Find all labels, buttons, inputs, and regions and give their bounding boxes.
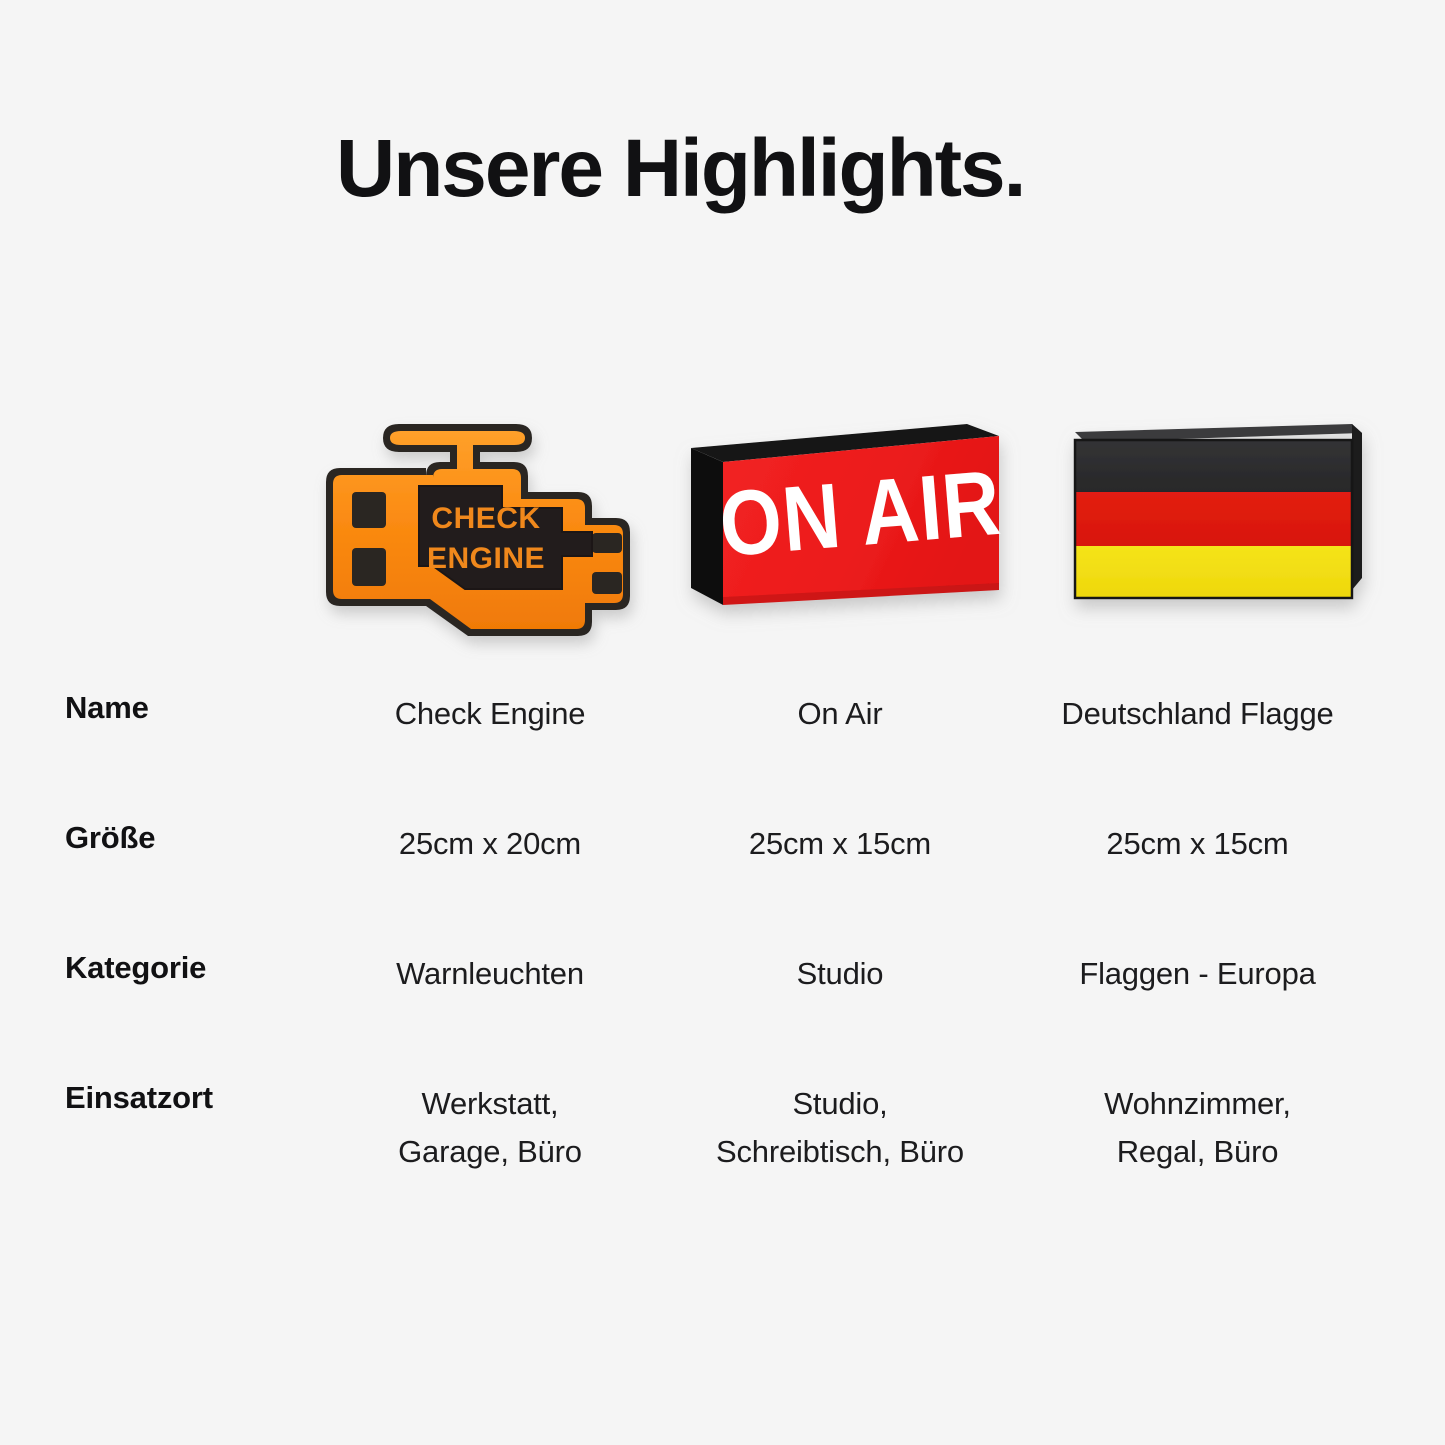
row-label-kategorie: Kategorie (65, 950, 206, 986)
table-row: Name Check Engine On Air Deutschland Fla… (0, 690, 1445, 820)
cell-groesse-check-engine: 25cm x 20cm (330, 820, 650, 868)
cell-line: Studio, (680, 1080, 1000, 1128)
check-engine-label-line1: CHECK (431, 502, 540, 535)
product-image-row: CHECK ENGINE (0, 400, 1445, 670)
cell-line: Wohnzimmer, (1025, 1080, 1370, 1128)
cell-groesse-on-air: 25cm x 15cm (680, 820, 1000, 868)
cell-line: Garage, Büro (330, 1128, 650, 1176)
cell-einsatzort-check-engine: Werkstatt, Garage, Büro (330, 1080, 650, 1176)
table-row: Größe 25cm x 20cm 25cm x 15cm 25cm x 15c… (0, 820, 1445, 950)
cell-line: Werkstatt, (330, 1080, 650, 1128)
page-title: Unsere Highlights. (336, 126, 1024, 212)
cell-einsatzort-on-air: Studio, Schreibtisch, Büro (680, 1080, 1000, 1176)
table-row: Einsatzort Werkstatt, Garage, Büro Studi… (0, 1080, 1445, 1230)
comparison-table: Name Check Engine On Air Deutschland Fla… (0, 690, 1445, 1230)
cell-line: Regal, Büro (1025, 1128, 1370, 1176)
row-label-name: Name (65, 690, 149, 726)
cell-name-deutschland-flagge: Deutschland Flagge (1025, 690, 1370, 738)
cell-einsatzort-deutschland-flagge: Wohnzimmer, Regal, Büro (1025, 1080, 1370, 1176)
cell-kategorie-check-engine: Warnleuchten (330, 950, 650, 998)
product-image-deutschland-flagge (1030, 400, 1405, 670)
check-engine-lamp-art: CHECK ENGINE (300, 400, 680, 670)
cell-line: Schreibtisch, Büro (680, 1128, 1000, 1176)
table-row: Kategorie Warnleuchten Studio Flaggen - … (0, 950, 1445, 1080)
cell-kategorie-deutschland-flagge: Flaggen - Europa (1025, 950, 1370, 998)
on-air-lightbox-art: ON AIR (655, 400, 1025, 670)
flag-lightbox-art (1030, 400, 1405, 670)
cell-kategorie-on-air: Studio (680, 950, 1000, 998)
infographic-page: Unsere Highlights. (0, 0, 1445, 1445)
product-image-on-air: ON AIR (655, 400, 1025, 670)
row-label-einsatzort: Einsatzort (65, 1080, 213, 1116)
row-label-groesse: Größe (65, 820, 155, 856)
product-image-check-engine: CHECK ENGINE (300, 400, 680, 670)
cell-name-check-engine: Check Engine (330, 690, 650, 738)
check-engine-label-line2: ENGINE (427, 542, 545, 575)
cell-groesse-deutschland-flagge: 25cm x 15cm (1025, 820, 1370, 868)
cell-name-on-air: On Air (680, 690, 1000, 738)
